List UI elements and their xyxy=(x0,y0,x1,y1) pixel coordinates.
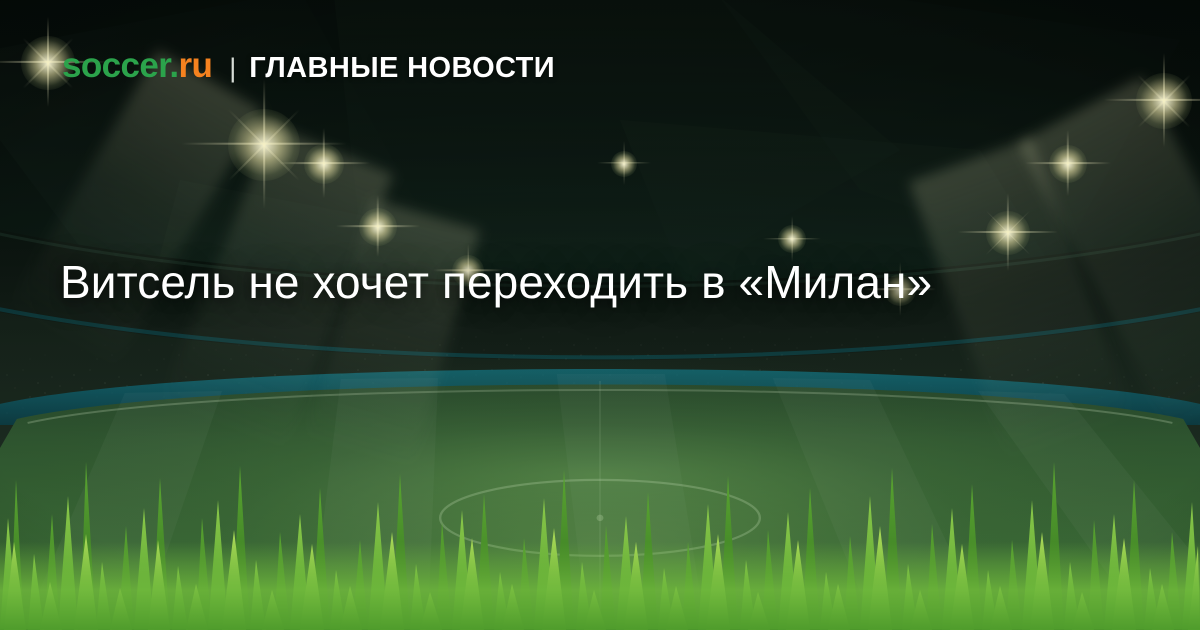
logo-word: soccer xyxy=(62,46,169,85)
site-header: soccer.ru | ГЛАВНЫЕ НОВОСТИ xyxy=(62,48,555,83)
news-cover-card: soccer.ru | ГЛАВНЫЕ НОВОСТИ Витсель не х… xyxy=(0,0,1200,630)
section-title: ГЛАВНЫЕ НОВОСТИ xyxy=(249,54,555,83)
soccer-ru-logo[interactable]: soccer.ru xyxy=(62,48,212,83)
header-divider: | xyxy=(229,55,236,82)
foreground-grass xyxy=(0,422,1200,630)
logo-tld: ru xyxy=(178,46,212,85)
news-headline: Витсель не хочет переходить в «Милан» xyxy=(60,252,960,313)
